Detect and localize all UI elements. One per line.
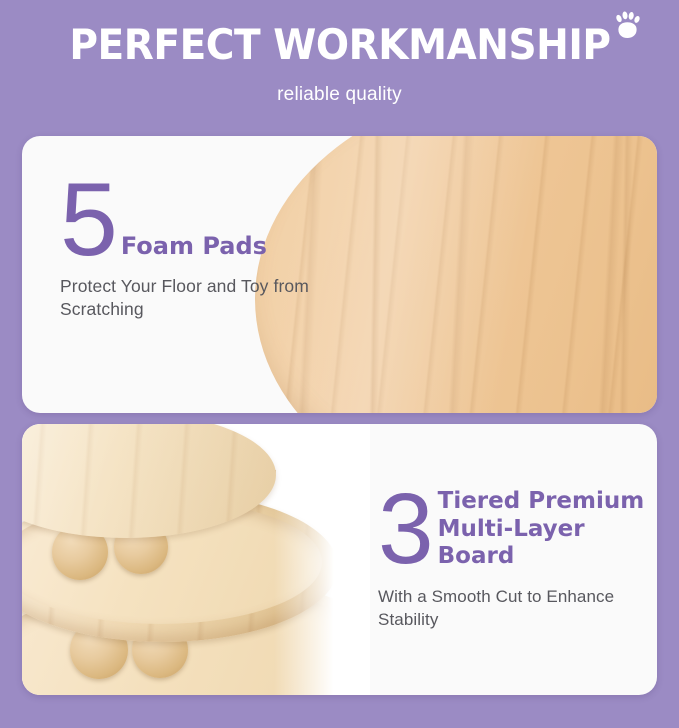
page-title-wrap: PERFECT WORKMANSHIP bbox=[0, 23, 679, 67]
page-subtitle: reliable quality bbox=[0, 84, 679, 106]
feature-card-foam-pads: 5 Foam Pads Protect Your Floor and Toy f… bbox=[22, 136, 657, 413]
foam-pads-description: Protect Your Floor and Toy from Scratchi… bbox=[60, 275, 360, 321]
feature-card-tiered-board: 3 Tiered Premium Multi-Layer Board With … bbox=[22, 424, 657, 695]
tiered-board-number: 3 bbox=[378, 482, 432, 577]
foam-pads-headline: 5 Foam Pads bbox=[60, 176, 360, 264]
foam-pads-text-block: 5 Foam Pads Protect Your Floor and Toy f… bbox=[60, 176, 360, 322]
tiered-board-label: Tiered Premium Multi-Layer Board bbox=[432, 482, 646, 571]
foam-pads-label: Foam Pads bbox=[116, 232, 267, 264]
tiered-board-headline: 3 Tiered Premium Multi-Layer Board bbox=[378, 482, 646, 577]
tiered-board-description: With a Smooth Cut to Enhance Stability bbox=[378, 586, 646, 632]
tiered-board-text-block: 3 Tiered Premium Multi-Layer Board With … bbox=[378, 482, 646, 632]
tiered-tower-photo bbox=[22, 424, 370, 695]
page-title: PERFECT WORKMANSHIP bbox=[69, 23, 610, 67]
header-banner: PERFECT WORKMANSHIP reliable quality bbox=[0, 0, 679, 128]
photo-fade-overlay bbox=[274, 424, 370, 695]
foam-pads-number: 5 bbox=[60, 176, 116, 264]
